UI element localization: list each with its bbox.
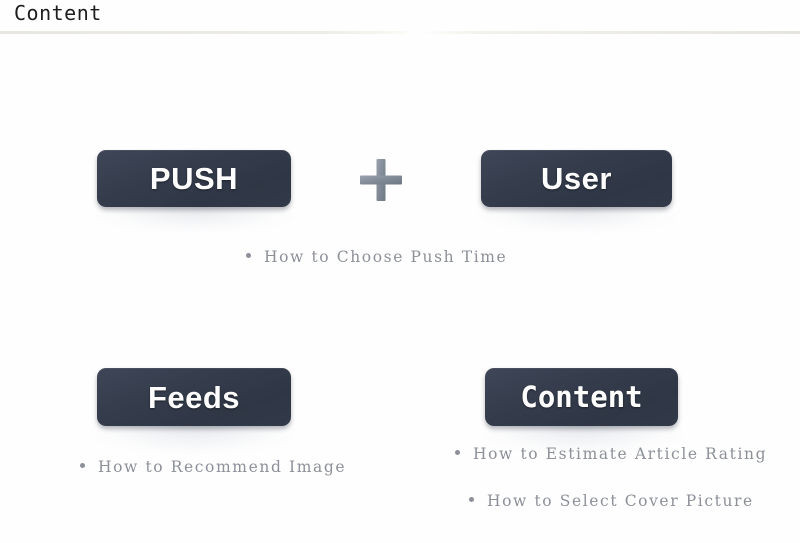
block-push-label: PUSH xyxy=(150,163,238,194)
block-feeds[interactable]: Feeds xyxy=(97,368,291,426)
bullet-item-rating: How to Estimate Article Rating xyxy=(455,445,767,463)
slide-header: Content xyxy=(0,0,800,34)
block-user[interactable]: User xyxy=(481,150,672,207)
bullet-dot-icon xyxy=(246,253,251,258)
bullet-dot-icon xyxy=(469,497,474,502)
block-content-label: Content xyxy=(520,383,642,412)
bullet-text-recommend: How to Recommend Image xyxy=(98,458,346,476)
slide: Content PUSH User xyxy=(0,0,800,543)
bullet-text-push-time: How to Choose Push Time xyxy=(264,248,507,266)
block-content[interactable]: Content xyxy=(485,368,678,426)
bullet-text-cover: How to Select Cover Picture xyxy=(487,492,754,510)
bullet-item-recommend: How to Recommend Image xyxy=(80,458,346,476)
bullet-dot-icon xyxy=(80,463,85,468)
plus-icon xyxy=(358,157,404,203)
block-push[interactable]: PUSH xyxy=(97,150,291,207)
block-feeds-label: Feeds xyxy=(148,382,240,413)
bullet-item-cover: How to Select Cover Picture xyxy=(469,492,754,510)
bullet-dot-icon xyxy=(455,450,460,455)
slide-body: PUSH User How to Choose Push Tim xyxy=(0,34,800,543)
bullet-text-rating: How to Estimate Article Rating xyxy=(473,445,767,463)
block-user-label: User xyxy=(541,163,612,194)
bullet-item-push-time: How to Choose Push Time xyxy=(246,248,507,266)
page-title: Content xyxy=(14,1,102,25)
